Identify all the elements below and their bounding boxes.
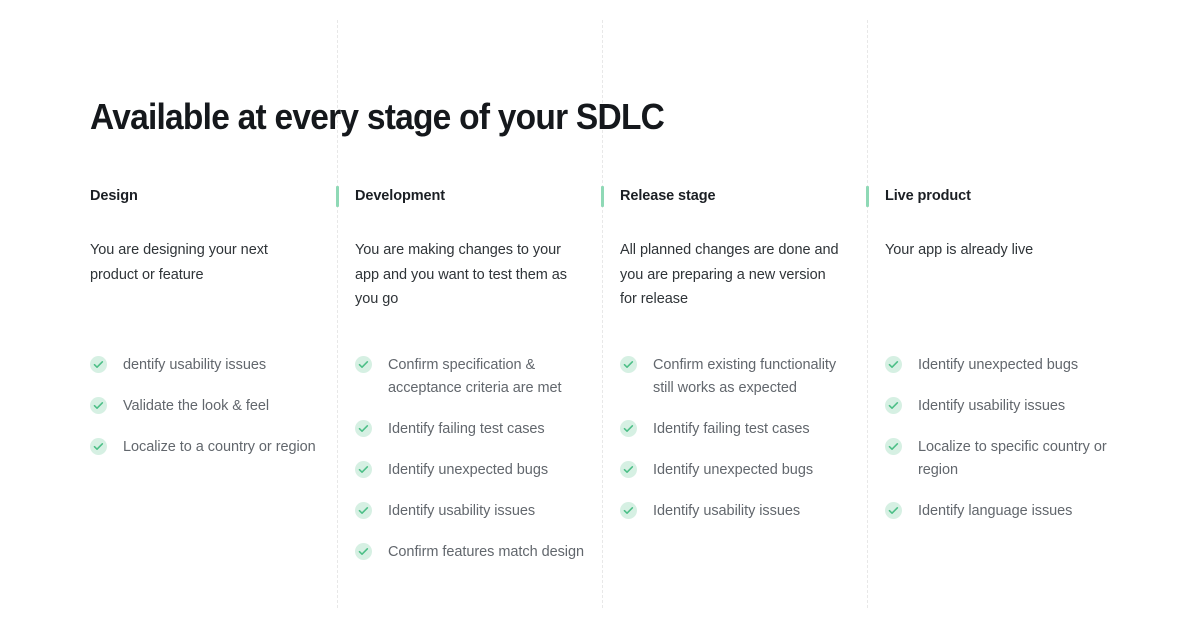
list-item-label: Identify language issues: [918, 503, 1072, 519]
list-item: Confirm features match design: [355, 541, 590, 564]
check-circle-icon: [620, 502, 637, 519]
check-circle-icon: [885, 438, 902, 455]
list-item-label: dentify usability issues: [123, 357, 266, 373]
list-item: Validate the look & feel: [90, 395, 325, 418]
stage-column-release-stage: Release stage All planned changes are do…: [620, 186, 852, 312]
check-circle-icon: [885, 397, 902, 414]
page-title: Available at every stage of your SDLC: [90, 94, 664, 140]
column-header-release-stage: Release stage: [620, 186, 852, 212]
checklist-development: Confirm specification & acceptance crite…: [355, 354, 590, 564]
column-description-development: You are making changes to your app and y…: [355, 238, 581, 312]
list-item: dentify usability issues: [90, 354, 325, 377]
list-item-label: Validate the look & feel: [123, 398, 269, 414]
list-item: Identify usability issues: [620, 500, 855, 523]
column-description-release-stage: All planned changes are done and you are…: [620, 238, 846, 312]
infographic-canvas: Available at every stage of your SDLC De…: [0, 0, 1200, 630]
stage-columns: Design You are designing your next produ…: [0, 186, 1200, 616]
check-circle-icon: [885, 356, 902, 373]
list-item-label: Identify usability issues: [388, 503, 535, 519]
check-circle-icon: [620, 461, 637, 478]
check-circle-icon: [355, 543, 372, 560]
list-item: Confirm existing functionality still wor…: [620, 354, 855, 400]
check-circle-icon: [90, 356, 107, 373]
accent-bar-icon: [601, 186, 604, 207]
list-item-label: Confirm specification & acceptance crite…: [388, 357, 562, 396]
column-title-live-product: Live product: [885, 186, 1117, 206]
list-item-label: Identify usability issues: [653, 503, 800, 519]
list-item: Localize to specific country or region: [885, 436, 1120, 482]
list-item-label: Localize to a country or region: [123, 439, 316, 455]
check-circle-icon: [355, 420, 372, 437]
list-item-label: Identify failing test cases: [653, 421, 810, 437]
list-item: Identify failing test cases: [355, 418, 590, 441]
list-item: Identify usability issues: [885, 395, 1120, 418]
stage-column-live-product: Live product Your app is already live Id…: [885, 186, 1117, 263]
check-circle-icon: [355, 461, 372, 478]
stage-column-development: Development You are making changes to yo…: [355, 186, 587, 312]
check-circle-icon: [620, 356, 637, 373]
check-circle-icon: [90, 438, 107, 455]
list-item: Identify failing test cases: [620, 418, 855, 441]
check-circle-icon: [885, 502, 902, 519]
check-circle-icon: [355, 502, 372, 519]
checklist-design: dentify usability issues Validate the lo…: [90, 354, 325, 459]
list-item-label: Identify usability issues: [918, 398, 1065, 414]
list-item: Identify unexpected bugs: [885, 354, 1120, 377]
accent-bar-icon: [866, 186, 869, 207]
list-item-label: Identify unexpected bugs: [918, 357, 1078, 373]
column-title-release-stage: Release stage: [620, 186, 852, 206]
list-item: Identify language issues: [885, 500, 1120, 523]
column-header-design: Design: [90, 186, 322, 212]
column-description-live-product: Your app is already live: [885, 238, 1111, 263]
checklist-live-product: Identify unexpected bugs Identify usabil…: [885, 354, 1120, 523]
list-item-label: Localize to specific country or region: [918, 439, 1107, 478]
stage-column-design: Design You are designing your next produ…: [90, 186, 322, 287]
list-item: Identify usability issues: [355, 500, 590, 523]
list-item: Localize to a country or region: [90, 436, 325, 459]
list-item: Confirm specification & acceptance crite…: [355, 354, 590, 400]
list-item-label: Identify failing test cases: [388, 421, 545, 437]
list-item: Identify unexpected bugs: [620, 459, 855, 482]
column-title-development: Development: [355, 186, 587, 206]
column-header-development: Development: [355, 186, 587, 212]
list-item-label: Confirm features match design: [388, 544, 584, 560]
list-item-label: Identify unexpected bugs: [388, 462, 548, 478]
check-circle-icon: [620, 420, 637, 437]
column-title-design: Design: [90, 186, 322, 206]
accent-bar-icon: [336, 186, 339, 207]
list-item: Identify unexpected bugs: [355, 459, 590, 482]
check-circle-icon: [90, 397, 107, 414]
column-header-live-product: Live product: [885, 186, 1117, 212]
check-circle-icon: [355, 356, 372, 373]
column-description-design: You are designing your next product or f…: [90, 238, 316, 287]
list-item-label: Identify unexpected bugs: [653, 462, 813, 478]
checklist-release-stage: Confirm existing functionality still wor…: [620, 354, 855, 523]
list-item-label: Confirm existing functionality still wor…: [653, 357, 836, 396]
